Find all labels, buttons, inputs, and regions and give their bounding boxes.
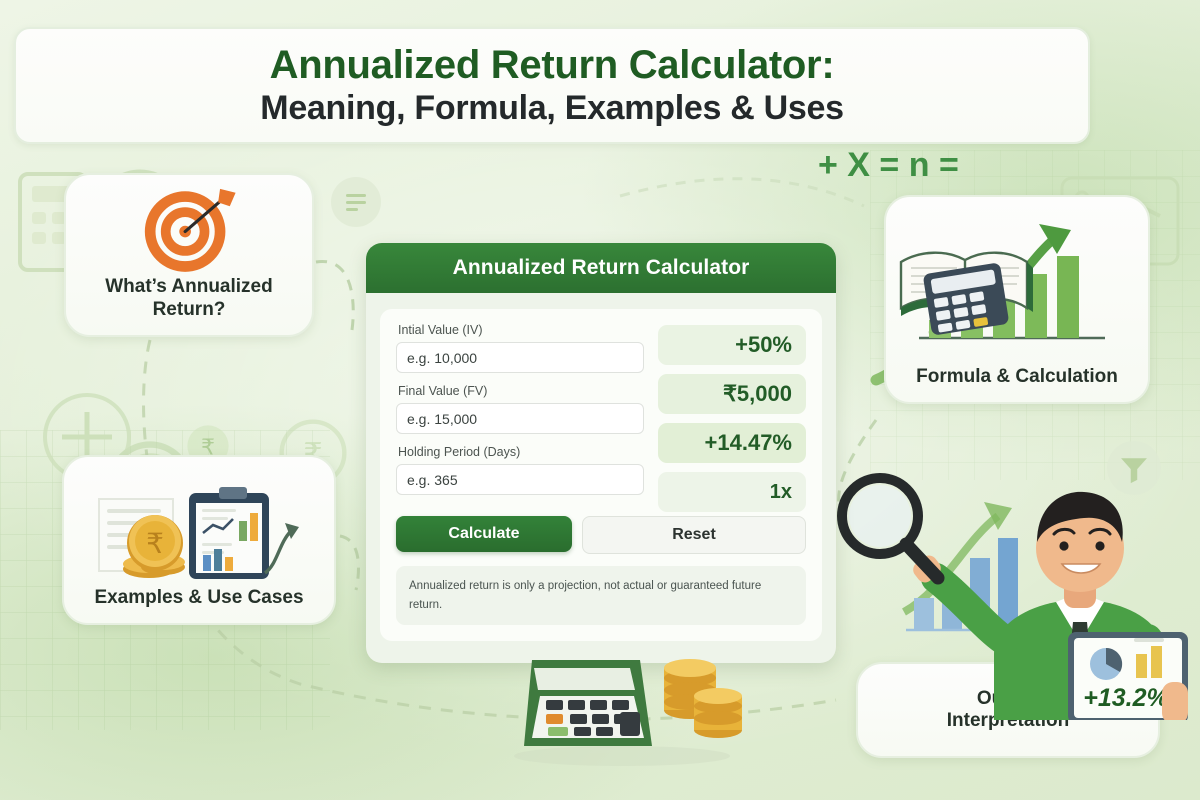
topic-card-output-interpretation[interactable]: Output Interpretation xyxy=(856,662,1160,758)
holding-period-label: Holding Period (Days) xyxy=(398,445,644,459)
topic-card-label: Examples & Use Cases xyxy=(84,587,313,623)
document-watermark-icon xyxy=(330,176,382,228)
page-title-banner: Annualized Return Calculator: Meaning, F… xyxy=(14,27,1090,144)
result-absolute-gain: ₹5,000 xyxy=(658,374,806,414)
topic-card-examples-use-cases[interactable]: ₹ Examples & Use Cases xyxy=(62,455,336,625)
topic-label-line-2: Return? xyxy=(153,299,226,320)
math-symbols-decoration: + X = n = xyxy=(818,146,959,185)
topic-label-line-1: What’s Annualized xyxy=(105,276,272,297)
svg-text:₹: ₹ xyxy=(146,527,164,560)
clipboard-chart-coins-icon: ₹ xyxy=(93,481,305,587)
calculator-title: Annualized Return Calculator xyxy=(453,256,750,280)
calculator-header: Annualized Return Calculator xyxy=(366,243,836,293)
target-icon xyxy=(133,183,245,276)
funnel-watermark-icon xyxy=(1106,440,1162,496)
topic-card-label: Formula & Calculation xyxy=(906,366,1128,402)
topic-card-label: What’s Annualized Return? xyxy=(95,276,282,335)
holding-period-input[interactable]: e.g. 365 xyxy=(396,464,644,495)
annualized-return-calculator-card: Annualized Return Calculator Intial Valu… xyxy=(366,243,836,663)
initial-value-label: Intial Value (IV) xyxy=(398,323,644,337)
calculator-disclaimer: Annualized return is only a projection, … xyxy=(396,566,806,625)
topic-card-formula-calculation[interactable]: Formula & Calculation xyxy=(884,195,1150,404)
final-value-label: Final Value (FV) xyxy=(398,384,644,398)
topic-card-label: Output Interpretation xyxy=(937,688,1079,733)
book-calculator-growth-icon xyxy=(899,216,1135,366)
calculator-body: Intial Value (IV) e.g. 10,000 Final Valu… xyxy=(380,309,822,641)
page-title-line-1: Annualized Return Calculator: xyxy=(270,44,835,87)
topic-card-what-is-annualized-return[interactable]: What’s Annualized Return? xyxy=(64,173,314,337)
calculator-results: +50% ₹5,000 +14.47% 1x xyxy=(658,323,806,512)
math-symbols-text: + X = n = xyxy=(818,146,959,184)
initial-value-input[interactable]: e.g. 10,000 xyxy=(396,342,644,373)
topic-label-line-1: Output xyxy=(977,688,1039,709)
result-total-return: +50% xyxy=(658,325,806,365)
result-growth-multiple: 1x xyxy=(658,472,806,512)
calculator-button-row: Calculate Reset xyxy=(396,516,806,554)
infographic-canvas: ₹ ₹ ₹ ₹ xyxy=(0,0,1200,800)
final-value-input[interactable]: e.g. 15,000 xyxy=(396,403,644,434)
topic-label-line-2: Interpretation xyxy=(947,710,1069,731)
result-annualized-return: +14.47% xyxy=(658,423,806,463)
page-title-line-2: Meaning, Formula, Examples & Uses xyxy=(260,89,843,127)
calculate-button[interactable]: Calculate xyxy=(396,516,572,552)
reset-button[interactable]: Reset xyxy=(582,516,806,554)
calculator-fields: Intial Value (IV) e.g. 10,000 Final Valu… xyxy=(396,323,644,512)
